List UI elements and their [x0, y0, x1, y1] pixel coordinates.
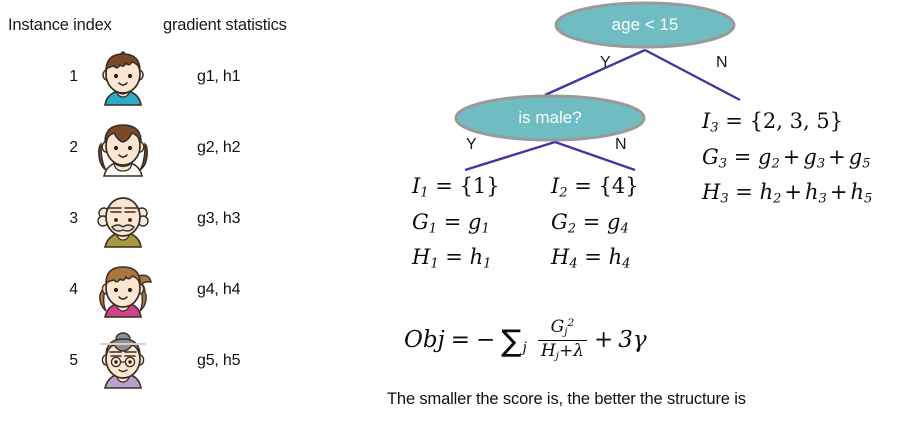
slide-canvas: Instance index gradient statistics 1 g1,… [0, 0, 920, 421]
leaf-1-hsum: H1 = h1 [412, 243, 500, 279]
elderly-man-avatar [92, 189, 154, 251]
leaf-3-hsum: H3 = h2+h3+h5 [702, 178, 872, 214]
leaf-3-set: I3 = {2, 3, 5} [702, 107, 872, 143]
caption-text: The smaller the score is, the better the… [387, 390, 746, 409]
branch-label-root-yes: Y [600, 54, 611, 72]
leaf-2-hsum: H4 = h4 [551, 243, 639, 279]
obj-denominator: Hj+λ [538, 340, 587, 363]
row-index-5: 5 [48, 352, 78, 370]
edge-child-yes [465, 142, 555, 170]
ponytail-girl-avatar [92, 259, 154, 321]
leaf-2-set: I2 = {4} [551, 172, 639, 208]
leaf-3-hsum-terms: h2+h3+h5 [760, 180, 873, 204]
leaf-2-gsum: G2 = g4 [551, 208, 639, 244]
row-index-2: 2 [48, 139, 78, 157]
obj-sum-index: j [523, 340, 527, 356]
edge-root-yes [545, 50, 645, 95]
node-root-label: age < 15 [560, 15, 730, 35]
row-stats-2: g2, h2 [197, 139, 240, 157]
row-stats-4: g4, h4 [197, 281, 240, 299]
leaf-2-equations: I2 = {4} G2 = g4 H4 = h4 [551, 172, 639, 279]
leaf-1-set: I1 = {1} [412, 172, 500, 208]
sum-icon: ∑ [501, 324, 521, 359]
obj-gamma: γ [633, 327, 647, 353]
branch-label-root-no: N [716, 54, 728, 72]
column-header-gradient-statistics: gradient statistics [163, 16, 287, 35]
column-header-instance-index: Instance index [8, 16, 112, 35]
boy-avatar [92, 47, 154, 109]
leaf-1-gsum: G1 = g1 [412, 208, 500, 244]
row-stats-5: g5, h5 [197, 352, 240, 370]
row-index-1: 1 [48, 68, 78, 86]
obj-fraction: Gj2 Hj+λ [538, 318, 587, 363]
leaf-3-equations: I3 = {2, 3, 5} G3 = g2+g3+g5 H3 = h2+h3+… [702, 107, 872, 214]
row-stats-1: g1, h1 [197, 68, 240, 86]
obj-equals: = [451, 327, 470, 353]
obj-lhs: Obj [404, 327, 445, 353]
elderly-woman-avatar [92, 330, 154, 392]
leaf-3-gsum: G3 = g2+g3+g5 [702, 143, 872, 179]
branch-label-child-yes: Y [466, 136, 477, 154]
obj-plus: + [594, 327, 613, 353]
row-stats-3: g3, h3 [197, 210, 240, 228]
obj-minus: − [476, 327, 495, 353]
row-index-4: 4 [48, 281, 78, 299]
branch-label-child-no: N [615, 136, 627, 154]
obj-gamma-coeff: 3 [618, 327, 633, 353]
girl-avatar [92, 118, 154, 180]
obj-numerator: Gj2 [548, 318, 578, 340]
objective-formula: Obj = − ∑ j Gj2 Hj+λ + 3 γ [404, 318, 647, 363]
node-is-male-label: is male? [465, 108, 635, 128]
leaf-3-gsum-terms: g2+g3+g5 [758, 145, 870, 169]
row-index-3: 3 [48, 210, 78, 228]
leaf-1-equations: I1 = {1} G1 = g1 H1 = h1 [412, 172, 500, 279]
